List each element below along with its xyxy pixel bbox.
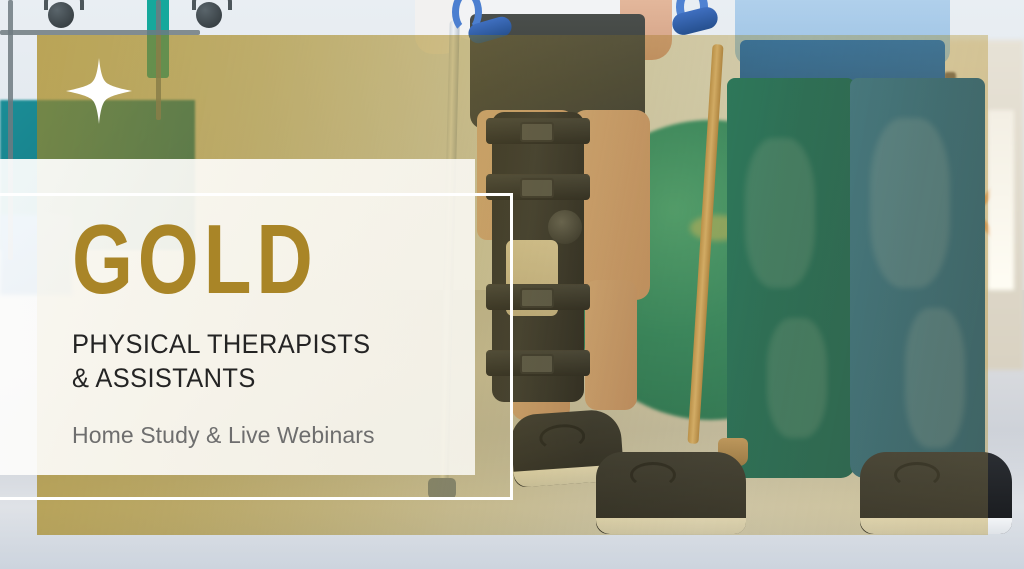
rack-knob-one	[48, 2, 74, 28]
window-light	[988, 110, 1014, 290]
frame-line-top	[0, 193, 513, 196]
frame-line-bottom	[0, 497, 513, 500]
four-point-star-icon	[66, 58, 132, 124]
promo-banner: GOLD PHYSICAL THERAPISTS & ASSISTANTS Ho…	[0, 0, 1024, 569]
banner-text-block: GOLD PHYSICAL THERAPISTS & ASSISTANTS Ho…	[72, 214, 472, 449]
frame-line-right	[510, 193, 513, 500]
brand-logo[interactable]	[66, 58, 132, 124]
tagline: Home Study & Live Webinars	[72, 422, 472, 449]
subheading: PHYSICAL THERAPISTS & ASSISTANTS	[72, 328, 456, 396]
headline-gold: GOLD	[72, 214, 392, 304]
rack-knob-two	[196, 2, 222, 28]
